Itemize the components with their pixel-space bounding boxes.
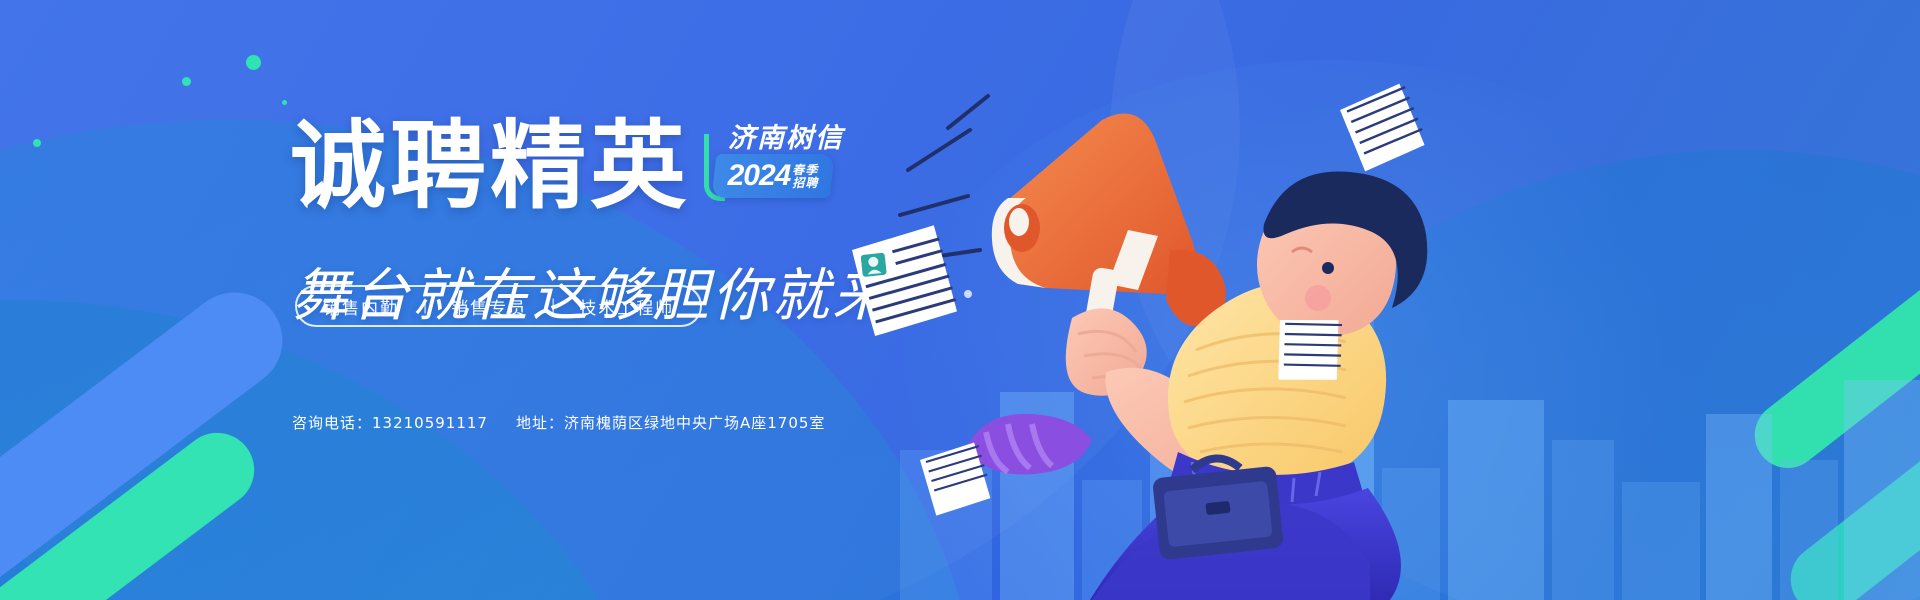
- brand-name: 济南树信: [728, 116, 844, 155]
- person-head: [1257, 171, 1427, 336]
- job-separator: |: [423, 297, 427, 315]
- headline-row: 诚聘精英 济南树信 2024 春季 招聘: [290, 110, 838, 214]
- recruitment-banner: 诚聘精英 济南树信 2024 春季 招聘 舞台就在这够胆你就来！ 销售内勤: [0, 0, 1920, 600]
- season-badge: 2024 春季 招聘: [712, 154, 835, 198]
- contact-phone: 咨询电话：13210591117: [292, 412, 488, 433]
- contact-address: 地址：济南槐荫区绿地中央广场A座1705室: [516, 412, 825, 433]
- badge-year: 2024: [728, 159, 791, 193]
- job-separator: |: [551, 297, 555, 315]
- job-position-3[interactable]: 技术工程师: [579, 294, 674, 319]
- badge-season-line2: 招聘: [792, 177, 818, 190]
- shoe-icon: [966, 414, 1092, 475]
- badge-season-line1: 春季: [792, 164, 818, 177]
- job-positions-pill: 销售内勤 | 销售专员 | 技术工程师: [295, 285, 702, 327]
- illustration-svg: [840, 0, 1460, 600]
- job-position-1[interactable]: 销售内勤: [323, 294, 399, 319]
- briefcase-icon: [1152, 458, 1284, 560]
- brand-badge-group: 济南树信 2024 春季 招聘: [706, 110, 838, 210]
- recruitment-illustration: [840, 0, 1460, 600]
- page-title: 诚聘精英: [290, 118, 690, 214]
- badge-season: 春季 招聘: [792, 164, 818, 189]
- contact-info: 咨询电话：13210591117 地址：济南槐荫区绿地中央广场A座1705室: [292, 412, 825, 433]
- job-position-2[interactable]: 销售专员: [451, 294, 527, 319]
